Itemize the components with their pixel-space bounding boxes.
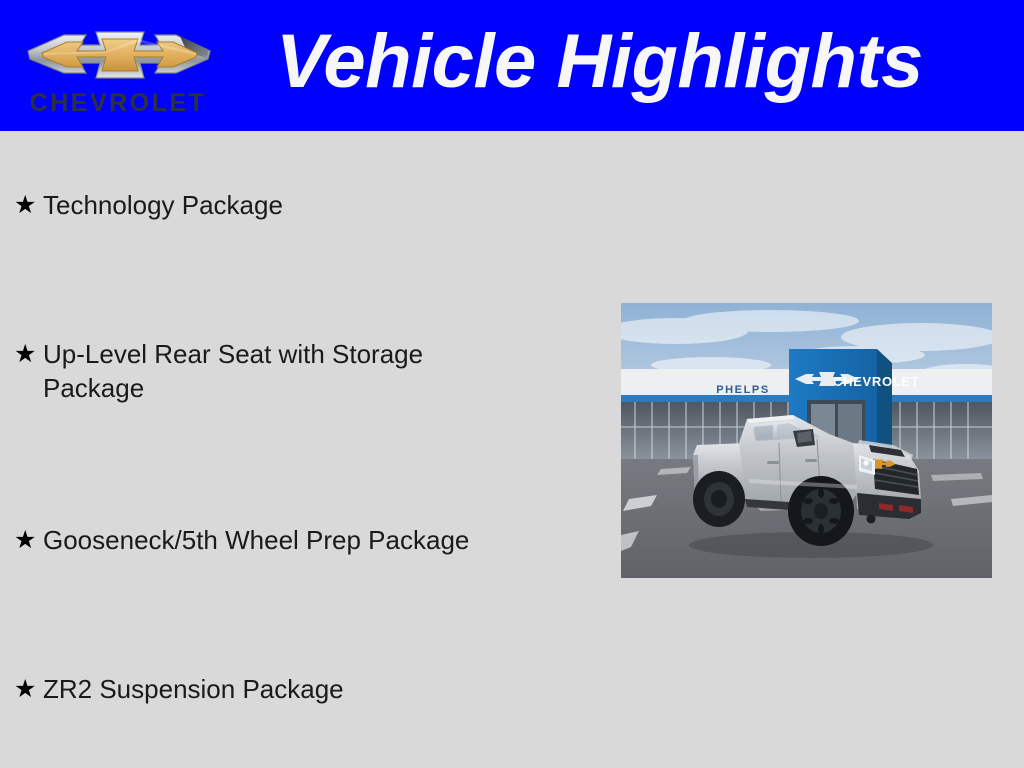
dealer-sign-label: CHEVROLET <box>833 374 919 389</box>
highlight-label: Up-Level Rear Seat with Storage Package <box>43 337 491 405</box>
list-item: ★ Technology Package <box>14 188 594 222</box>
header-banner: CHEVROLET Vehicle Highlights <box>0 0 1024 131</box>
star-bullet-icon: ★ <box>14 337 43 371</box>
highlight-label: ZR2 Suspension Package <box>43 672 594 706</box>
star-bullet-icon: ★ <box>14 672 43 706</box>
highlight-label: Gooseneck/5th Wheel Prep Package <box>43 523 594 557</box>
vehicle-photo-image: PHELPS CHEVROLET <box>621 303 992 578</box>
vehicle-highlights-list: ★ Technology Package ★ Up-Level Rear Sea… <box>0 131 610 768</box>
rear-wheel <box>693 471 745 527</box>
star-bullet-icon: ★ <box>14 523 43 557</box>
slide-canvas: CHEVROLET Vehicle Highlights ★ Technolog… <box>0 0 1024 768</box>
highlight-label: Technology Package <box>43 188 594 222</box>
star-bullet-icon: ★ <box>14 188 43 222</box>
list-item: ★ ZR2 Suspension Package <box>14 672 594 706</box>
page-title: Vehicle Highlights <box>276 14 1006 110</box>
chevrolet-bowtie-icon: CHEVROLET <box>20 12 216 116</box>
bowtie-gold-fill <box>42 39 197 71</box>
dealer-name-sign: PHELPS <box>716 384 770 396</box>
chevrolet-wordmark: CHEVROLET <box>30 89 207 116</box>
chevrolet-logo: CHEVROLET <box>20 12 216 116</box>
list-item: ★ Gooseneck/5th Wheel Prep Package <box>14 523 594 557</box>
vehicle-photo: PHELPS CHEVROLET <box>621 303 992 578</box>
list-item: ★ Up-Level Rear Seat with Storage Packag… <box>14 337 594 405</box>
